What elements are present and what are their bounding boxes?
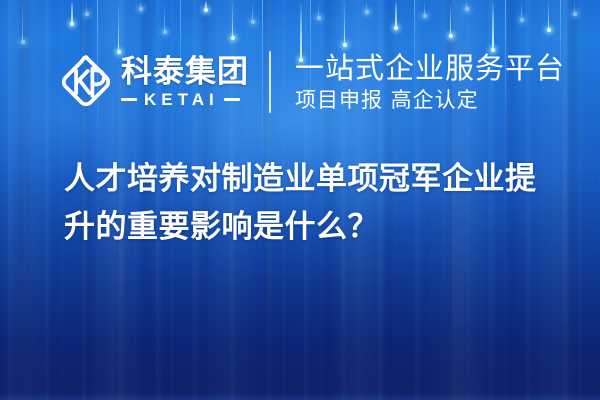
promo-banner: 科泰集团 KETAI 一站式企业服务平台 项目申报 高企认定 人才培养对制造业单…	[0, 0, 600, 400]
brand-name-en-row: KETAI	[121, 91, 249, 109]
tagline-secondary: 项目申报 高企认定	[295, 87, 565, 113]
dash-left-icon	[121, 98, 137, 101]
page-title-line-1: 人才培养对制造业单项冠军企业提	[64, 155, 564, 203]
ketai-kp-diamond-monogram-icon	[57, 53, 115, 111]
dash-right-icon	[224, 98, 240, 101]
page-title-line-2: 升的重要影响是什么？	[64, 203, 564, 251]
brand-logo[interactable]: 科泰集团 KETAI	[57, 53, 249, 111]
header-divider	[269, 51, 271, 113]
brand-name-cn: 科泰集团	[121, 56, 249, 89]
tagline-primary: 一站式企业服务平台	[295, 52, 565, 85]
tagline-block: 一站式企业服务平台 项目申报 高企认定	[295, 52, 565, 113]
banner-header: 科泰集团 KETAI 一站式企业服务平台 项目申报 高企认定	[0, 44, 600, 120]
brand-wordmark: 科泰集团 KETAI	[121, 56, 249, 109]
page-title: 人才培养对制造业单项冠军企业提 升的重要影响是什么？	[64, 155, 564, 251]
brand-name-en: KETAI	[144, 91, 219, 109]
